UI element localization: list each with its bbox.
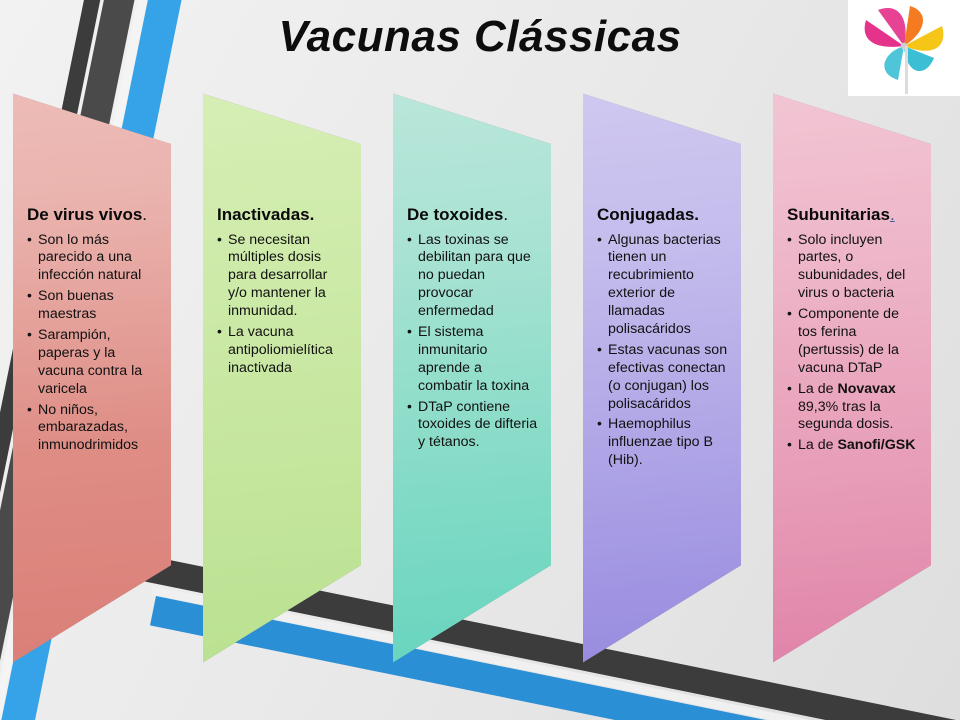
list-item: Sarampión, paperas y la vacuna contra la… (27, 327, 159, 399)
column-toxoides: De toxoides. Las toxinas se debilitan pa… (393, 0, 551, 720)
column-content: Inactivadas. Se necesitan múltiples dosi… (203, 205, 361, 381)
list-item: Solo incluyen partes, o subunidades, del… (787, 232, 919, 304)
list-item: Componente de tos ferina (pertussis) de … (787, 306, 919, 378)
column-content: Subunitarias. Solo incluyen partes, o su… (773, 205, 931, 458)
column-heading: Subunitarias. (787, 205, 919, 225)
column-inactivadas: Inactivadas. Se necesitan múltiples dosi… (203, 0, 361, 720)
column-heading: De toxoides. (407, 205, 539, 225)
column-heading: Inactivadas. (217, 205, 349, 225)
slide-canvas: Vacunas Clássicas De virus vivos. Son lo… (0, 0, 960, 720)
column-subunitarias: Subunitarias. Solo incluyen partes, o su… (773, 0, 931, 720)
list-item: Son lo más parecido a una infección natu… (27, 232, 159, 286)
list-item: DTaP contiene toxoides de difteria y tét… (407, 399, 539, 453)
column-heading: Conjugadas. (597, 205, 729, 225)
list-item: Las toxinas se debilitan para que no pue… (407, 232, 539, 321)
list-item: La vacuna antipoliomielítica inactivada (217, 324, 349, 378)
bullet-list: Solo incluyen partes, o subunidades, del… (787, 232, 919, 456)
list-item: Estas vacunas son efectivas conectan (o … (597, 342, 729, 414)
list-item: Son buenas maestras (27, 288, 159, 324)
column-content: De virus vivos. Son lo más parecido a un… (13, 205, 171, 458)
list-item: No niños, embarazadas, inmunodrimidos (27, 402, 159, 456)
page-title: Vacunas Clássicas (0, 12, 960, 62)
list-item: Algunas bacterias tienen un recubrimient… (597, 232, 729, 339)
list-item: La de Novavax 89,3% tras la segunda dosi… (787, 381, 919, 435)
pinwheel-icon (848, 0, 960, 96)
list-item: Se necesitan múltiples dosis para desarr… (217, 232, 349, 321)
list-item: El sistema inmunitario aprende a combati… (407, 324, 539, 396)
bullet-list: Las toxinas se debilitan para que no pue… (407, 232, 539, 453)
list-item: La de Sanofi/GSK (787, 437, 919, 455)
column-virus-vivos: De virus vivos. Son lo más parecido a un… (13, 0, 171, 720)
column-heading: De virus vivos. (27, 205, 159, 225)
pinwheel-logo (848, 0, 960, 96)
list-item: Haemophilus influenzae tipo B (Hib). (597, 416, 729, 470)
column-content: Conjugadas. Algunas bacterias tienen un … (583, 205, 741, 473)
bullet-list: Se necesitan múltiples dosis para desarr… (217, 232, 349, 378)
bullet-list: Algunas bacterias tienen un recubrimient… (597, 232, 729, 471)
column-content: De toxoides. Las toxinas se debilitan pa… (393, 205, 551, 455)
column-conjugadas: Conjugadas. Algunas bacterias tienen un … (583, 0, 741, 720)
bullet-list: Son lo más parecido a una infección natu… (27, 232, 159, 456)
